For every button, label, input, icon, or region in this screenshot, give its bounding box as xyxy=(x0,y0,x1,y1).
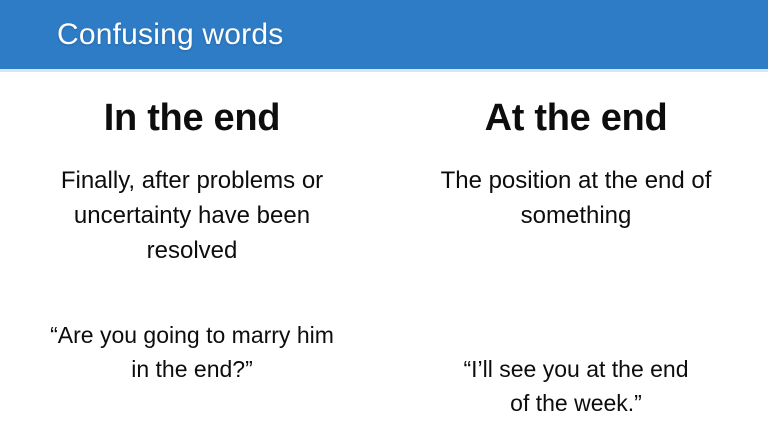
example-left-line-2: in the end?” xyxy=(26,352,358,386)
slide-title: Confusing words xyxy=(57,20,283,50)
example-right-line-2: of the week.” xyxy=(410,386,742,420)
definition-left-line-3: resolved xyxy=(26,233,358,268)
definition-right-line-2: something xyxy=(410,198,742,233)
column-heading-left: In the end xyxy=(26,98,358,139)
definition-left: Finally, after problems or uncertainty h… xyxy=(26,163,358,268)
column-at-the-end: At the end The position at the end of so… xyxy=(384,72,768,432)
title-banner: Confusing words xyxy=(0,0,768,69)
example-left-line-1: “Are you going to marry him xyxy=(26,318,358,352)
definition-left-line-1: Finally, after problems or xyxy=(26,163,358,198)
definition-left-line-2: uncertainty have been xyxy=(26,198,358,233)
definition-right-line-1: The position at the end of xyxy=(410,163,742,198)
example-left: “Are you going to marry him in the end?” xyxy=(26,318,358,386)
column-heading-right: At the end xyxy=(410,98,742,139)
example-right-line-1: “I’ll see you at the end xyxy=(410,352,742,386)
column-in-the-end: In the end Finally, after problems or un… xyxy=(0,72,384,432)
slide: Confusing words In the end Finally, afte… xyxy=(0,0,768,432)
content-columns: In the end Finally, after problems or un… xyxy=(0,72,768,432)
example-right: “I’ll see you at the end of the week.” xyxy=(410,352,742,420)
definition-right: The position at the end of something xyxy=(410,163,742,233)
